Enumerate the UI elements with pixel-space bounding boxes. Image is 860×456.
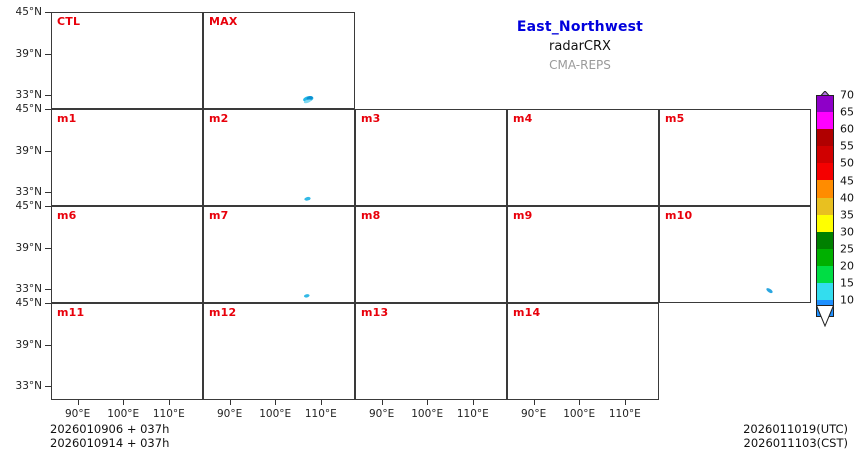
river-line: [463, 173, 471, 199]
river-line: [67, 359, 159, 372]
river-line: [336, 266, 341, 279]
province-border: [79, 228, 106, 253]
province-border: [231, 325, 258, 350]
lon-tick-label: 110°E: [609, 408, 641, 420]
province-border: [559, 215, 595, 228]
init-time-line-2: 2026010914 + 037h: [50, 436, 169, 450]
province-border: [443, 134, 482, 191]
province-border: [348, 251, 354, 254]
river-line: [603, 332, 626, 347]
province-border: [383, 234, 446, 270]
province-border: [535, 137, 598, 173]
lon-tick-label: 110°E: [153, 408, 185, 420]
province-border: [407, 215, 443, 228]
province-border: [439, 371, 457, 398]
panel-label: m3: [361, 112, 381, 125]
river-line: [287, 37, 323, 77]
map-panel-m2[interactable]: m2: [203, 109, 355, 206]
river-line: [767, 173, 775, 199]
province-border: [785, 265, 797, 302]
map-panel-m14[interactable]: m14: [507, 303, 659, 400]
river-line: [401, 275, 419, 284]
panel-label: MAX: [209, 15, 238, 28]
river-line: [743, 134, 779, 174]
map-panel-m6[interactable]: m6: [51, 206, 203, 303]
forecast-init-times: 2026010906 + 037h 2026010914 + 037h: [50, 422, 169, 450]
colorbar-tick-label: 40: [840, 191, 854, 204]
province-border: [652, 251, 658, 254]
province-border: [139, 37, 178, 94]
province-border: [135, 80, 153, 107]
river-line: [463, 270, 471, 296]
river-line: [184, 266, 189, 279]
map-panel-m1[interactable]: m1: [51, 109, 203, 206]
province-border: [306, 25, 309, 39]
lat-tick-mark: [45, 386, 51, 387]
province-border: [156, 191, 170, 205]
map-panel-m3[interactable]: m3: [355, 109, 507, 206]
province-border: [762, 219, 765, 233]
province-border: [720, 277, 743, 280]
colorbar-tick-label: 15: [840, 277, 854, 290]
lon-tick-label: 100°E: [411, 408, 443, 420]
province-border: [443, 328, 482, 385]
river-line: [475, 220, 490, 230]
province-border: [341, 87, 355, 88]
map-panel-m13[interactable]: m13: [355, 303, 507, 400]
colorbar-segment: [816, 180, 834, 197]
colorbar-segment: [816, 95, 834, 112]
river-line: [311, 270, 319, 296]
river-line: [177, 140, 182, 162]
province-border: [177, 168, 189, 205]
province-border: [154, 25, 157, 39]
lon-tick-mark: [625, 400, 626, 405]
province-border: [112, 180, 135, 183]
river-line: [249, 178, 267, 187]
init-time-line-1: 2026010906 + 037h: [50, 422, 169, 436]
province-border: [500, 154, 506, 157]
river-line: [475, 123, 490, 133]
river-line: [118, 162, 130, 171]
province-border: [204, 353, 213, 363]
province-border: [460, 288, 474, 302]
river-line: [553, 178, 571, 187]
river-line: [755, 138, 778, 153]
province-border: [797, 184, 811, 185]
river-line: [633, 334, 638, 356]
panel-label: m2: [209, 112, 229, 125]
province-border: [177, 362, 189, 399]
province-border: [687, 131, 714, 156]
lon-tick-mark: [321, 400, 322, 405]
province-border: [493, 378, 507, 379]
province-border: [559, 118, 595, 131]
river-line: [553, 372, 571, 381]
province-border: [458, 219, 461, 233]
province-border: [517, 351, 591, 387]
river-line: [488, 169, 493, 182]
province-border: [460, 385, 474, 399]
river-line: [299, 41, 322, 56]
river-line: [633, 140, 638, 162]
river-line: [627, 220, 642, 230]
province-border: [383, 228, 410, 253]
river-line: [523, 262, 615, 275]
province-border: [341, 184, 355, 185]
province-border: [416, 277, 439, 280]
lon-tick-label: 90°E: [65, 408, 90, 420]
river-line: [371, 359, 463, 372]
province-border: [559, 312, 595, 325]
province-border: [383, 131, 410, 156]
province-border: [61, 351, 135, 387]
province-border: [365, 254, 439, 290]
province-border: [612, 385, 626, 399]
map-panel-m10[interactable]: m10: [659, 206, 811, 303]
province-border: [264, 180, 287, 183]
colorbar-tick-label: 35: [840, 208, 854, 221]
colorbar-segment: [816, 146, 834, 163]
river-line: [705, 275, 723, 284]
province-border: [189, 378, 203, 379]
province-border: [610, 316, 613, 330]
river-line: [640, 266, 645, 279]
province-border: [785, 168, 797, 205]
province-border: [61, 157, 135, 193]
river-line: [574, 259, 586, 268]
province-border: [52, 62, 61, 72]
province-border: [79, 325, 106, 350]
river-line: [311, 173, 319, 199]
province-border: [341, 281, 355, 282]
river-line: [270, 356, 282, 365]
province-border: [139, 134, 178, 191]
province-border: [458, 316, 461, 330]
province-border: [481, 265, 493, 302]
province-border: [112, 374, 135, 377]
province-border: [52, 159, 61, 169]
river-line: [422, 356, 434, 365]
panel-label: m12: [209, 306, 236, 319]
river-line: [401, 178, 419, 187]
map-panel-m12[interactable]: m12: [203, 303, 355, 400]
province-border: [612, 191, 626, 205]
river-line: [171, 26, 186, 36]
province-border: [568, 374, 591, 377]
province-border: [255, 21, 291, 34]
lon-tick-mark: [473, 400, 474, 405]
river-line: [329, 43, 334, 65]
river-line: [171, 317, 186, 327]
province-border: [383, 325, 410, 350]
province-border: [652, 154, 658, 157]
river-line: [249, 275, 267, 284]
province-border: [439, 274, 457, 301]
province-border: [306, 316, 309, 330]
province-border: [804, 251, 810, 254]
map-panel-m9[interactable]: m9: [507, 206, 659, 303]
map-panel-m4[interactable]: m4: [507, 109, 659, 206]
river-line: [422, 162, 434, 171]
valid-times: 2026011019(UTC) 2026011103(CST): [743, 422, 848, 450]
province-border: [196, 57, 202, 60]
river-line: [523, 359, 615, 372]
province-border: [329, 265, 341, 302]
river-line: [439, 328, 475, 368]
lon-tick-mark: [123, 400, 124, 405]
river-line: [792, 266, 797, 279]
lat-tick-mark: [45, 54, 51, 55]
colorbar-tick-label: 45: [840, 174, 854, 187]
province-border: [255, 118, 291, 131]
map-panel-m7[interactable]: m7: [203, 206, 355, 303]
province-border: [79, 131, 106, 156]
province-border: [196, 348, 202, 351]
river-line: [135, 231, 171, 271]
river-line: [147, 235, 170, 250]
province-border: [291, 37, 330, 94]
river-line: [171, 220, 186, 230]
river-line: [118, 65, 130, 74]
lon-tick-label: 90°E: [217, 408, 242, 420]
province-border: [291, 328, 330, 385]
lon-tick-mark: [382, 400, 383, 405]
river-line: [135, 328, 171, 368]
province-border: [135, 274, 153, 301]
panel-label: m8: [361, 209, 381, 222]
province-border: [407, 118, 443, 131]
river-line: [488, 363, 493, 376]
province-border: [416, 374, 439, 377]
colorbar: [816, 95, 834, 317]
province-border: [460, 191, 474, 205]
province-border: [79, 331, 142, 367]
river-line: [627, 317, 642, 327]
river-line: [574, 356, 586, 365]
province-border: [493, 281, 507, 282]
province-border: [156, 94, 170, 108]
river-line: [640, 363, 645, 376]
province-border: [612, 288, 626, 302]
river-line: [323, 317, 338, 327]
river-line: [323, 123, 338, 133]
panel-label: CTL: [57, 15, 80, 28]
river-line: [615, 173, 623, 199]
river-line: [591, 231, 627, 271]
river-line: [603, 235, 626, 250]
map-panel-ctl[interactable]: CTL: [51, 12, 203, 109]
province-border: [287, 80, 305, 107]
river-line: [219, 262, 311, 275]
river-line: [451, 138, 474, 153]
lon-tick-label: 100°E: [107, 408, 139, 420]
colorbar-tick-label: 50: [840, 157, 854, 170]
province-border: [645, 184, 659, 185]
province-border: [264, 83, 287, 86]
province-border: [52, 256, 61, 266]
province-border: [500, 251, 506, 254]
province-border: [610, 219, 613, 233]
province-border: [291, 134, 330, 191]
colorbar-segment: [816, 266, 834, 283]
river-line: [779, 220, 794, 230]
river-line: [371, 165, 463, 178]
province-border: [231, 228, 258, 253]
river-line: [603, 138, 626, 153]
river-line: [249, 372, 267, 381]
lat-tick-label: 39°N: [16, 339, 42, 351]
province-border: [79, 137, 142, 173]
river-line: [97, 275, 115, 284]
province-border: [633, 168, 645, 205]
lat-tick-label: 39°N: [16, 145, 42, 157]
lat-tick-mark: [45, 206, 51, 207]
province-border: [135, 371, 153, 398]
river-line: [439, 134, 475, 174]
province-border: [797, 281, 811, 282]
province-border: [348, 57, 354, 60]
province-border: [687, 228, 714, 253]
river-line: [287, 231, 323, 271]
province-border: [264, 374, 287, 377]
province-border: [255, 312, 291, 325]
province-border: [329, 71, 341, 108]
province-border: [255, 215, 291, 228]
river-line: [323, 26, 338, 36]
panel-label: m11: [57, 306, 84, 319]
river-line: [329, 237, 334, 259]
province-border: [711, 215, 747, 228]
map-panel-m5[interactable]: m5: [659, 109, 811, 206]
panel-label: m5: [665, 112, 685, 125]
province-border: [154, 316, 157, 330]
colorbar-tick-label: 65: [840, 106, 854, 119]
province-border: [591, 177, 609, 204]
map-panel-m11[interactable]: m11: [51, 303, 203, 400]
valid-time-cst: 2026011103(CST): [743, 436, 848, 450]
province-border: [156, 288, 170, 302]
province-border: [407, 312, 443, 325]
province-border: [189, 184, 203, 185]
province-border: [79, 40, 142, 76]
province-border: [204, 62, 213, 72]
lat-tick-label: 39°N: [16, 242, 42, 254]
province-border: [517, 157, 591, 193]
province-border: [535, 325, 562, 350]
province-border: [595, 134, 634, 191]
province-border: [231, 131, 258, 156]
river-line: [523, 165, 615, 178]
river-line: [159, 76, 167, 102]
province-border: [154, 219, 157, 233]
province-border: [535, 234, 598, 270]
radar-echo: [303, 293, 311, 298]
province-border: [443, 231, 482, 288]
lat-tick-label: 45°N: [16, 200, 42, 212]
province-border: [645, 378, 659, 379]
province-border: [660, 159, 669, 169]
province-border: [177, 71, 189, 108]
river-line: [488, 266, 493, 279]
province-border: [306, 122, 309, 136]
province-border: [365, 351, 439, 387]
page-title: East_Northwest: [430, 18, 730, 36]
river-line: [135, 134, 171, 174]
river-line: [97, 178, 115, 187]
river-line: [329, 140, 334, 162]
lon-tick-mark: [275, 400, 276, 405]
province-border: [439, 177, 457, 204]
colorbar-segment: [816, 232, 834, 249]
lon-tick-mark: [534, 400, 535, 405]
lat-tick-mark: [45, 303, 51, 304]
province-border: [112, 277, 135, 280]
river-line: [785, 237, 790, 259]
model-label: CMA-REPS: [430, 57, 730, 74]
province-border: [308, 288, 322, 302]
province-border: [61, 60, 135, 96]
colorbar-segment: [816, 249, 834, 266]
panel-label: m6: [57, 209, 77, 222]
map-panel-max[interactable]: MAX: [203, 12, 355, 109]
river-line: [726, 259, 738, 268]
river-line: [67, 262, 159, 275]
province-border: [633, 265, 645, 302]
river-line: [118, 356, 130, 365]
province-border: [177, 265, 189, 302]
province-border: [231, 137, 294, 173]
river-line: [249, 81, 267, 90]
map-panel-m8[interactable]: m8: [355, 206, 507, 303]
lat-tick-label: 33°N: [16, 89, 42, 101]
panel-label: m7: [209, 209, 229, 222]
province-border: [287, 177, 305, 204]
river-line: [615, 367, 623, 393]
river-line: [219, 165, 311, 178]
river-line: [184, 363, 189, 376]
province-border: [508, 256, 517, 266]
colorbar-tick-label: 60: [840, 123, 854, 136]
river-line: [270, 259, 282, 268]
lat-tick-label: 45°N: [16, 297, 42, 309]
province-border: [52, 353, 61, 363]
province-border: [135, 177, 153, 204]
river-line: [475, 317, 490, 327]
colorbar-under-arrow: [816, 305, 834, 327]
river-line: [135, 37, 171, 77]
province-border: [764, 191, 778, 205]
province-border: [535, 331, 598, 367]
panel-label: m13: [361, 306, 388, 319]
lat-tick-label: 33°N: [16, 283, 42, 295]
river-line: [336, 72, 341, 85]
river-line: [640, 169, 645, 182]
province-border: [79, 234, 142, 270]
lat-tick-mark: [45, 109, 51, 110]
lon-tick-label: 100°E: [259, 408, 291, 420]
province-border: [103, 215, 139, 228]
province-border: [139, 231, 178, 288]
valid-time-utc: 2026011019(UTC): [743, 422, 848, 436]
province-border: [189, 281, 203, 282]
colorbar-tick-label: 20: [840, 260, 854, 273]
lat-tick-mark: [45, 289, 51, 290]
province-border: [79, 34, 106, 59]
river-line: [336, 363, 341, 376]
river-line: [451, 235, 474, 250]
river-line: [336, 169, 341, 182]
